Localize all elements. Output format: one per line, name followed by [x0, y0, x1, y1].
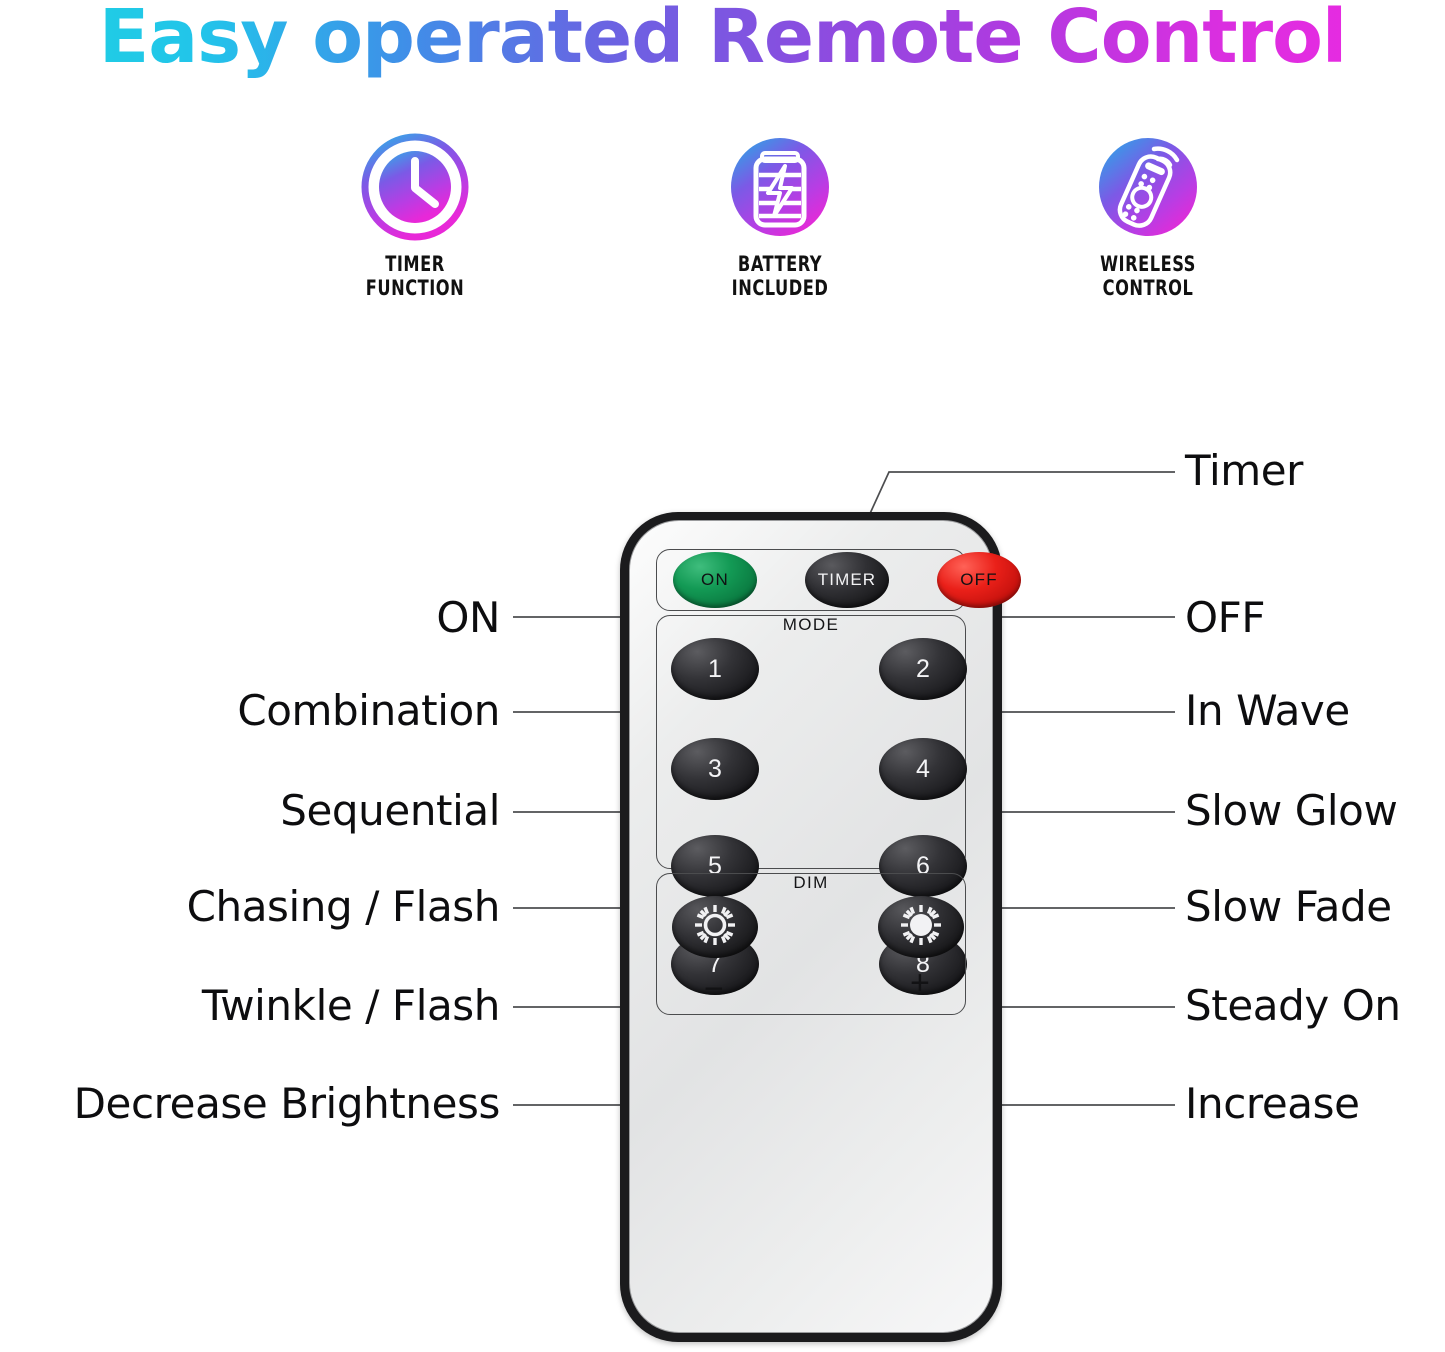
power-panel: ON TIMER OFF [656, 549, 966, 611]
dim-panel-title: DIM [657, 873, 965, 893]
mode-4-label: 4 [916, 755, 930, 784]
mode-1-button[interactable]: 1 [671, 638, 759, 700]
dim-increase-button[interactable] [878, 896, 964, 958]
callout-twinkle-flash: Twinkle / Flash [202, 981, 500, 1030]
feature-badges: TIMER FUNCTION [0, 128, 1445, 308]
mode-1-label: 1 [708, 655, 722, 684]
timer-button-label: TIMER [818, 570, 876, 590]
on-button[interactable]: ON [673, 552, 757, 608]
page-title: Easy operated Remote Control [0, 0, 1445, 80]
callout-timer: Timer [1185, 446, 1303, 495]
mode-3-button[interactable]: 3 [671, 738, 759, 800]
callout-on: ON [436, 593, 500, 642]
dim-increase-symbol: + [910, 966, 930, 1000]
mode-2-label: 2 [916, 655, 930, 684]
off-button-label: OFF [960, 570, 998, 590]
feature-timer-function: TIMER FUNCTION [285, 128, 545, 301]
remote-control: ON TIMER OFF MODE 1 2 3 4 5 6 7 8 DIM [620, 512, 1002, 1342]
callout-sequential: Sequential [280, 786, 500, 835]
callout-in-wave: In Wave [1185, 686, 1350, 735]
remote-faceplate: ON TIMER OFF MODE 1 2 3 4 5 6 7 8 DIM [629, 520, 993, 1333]
callout-slow-glow: Slow Glow [1185, 786, 1397, 835]
timer-button[interactable]: TIMER [805, 552, 889, 608]
dim-decrease-symbol: − [704, 972, 724, 1006]
callout-slow-fade: Slow Fade [1185, 882, 1392, 931]
battery-icon [650, 128, 910, 246]
on-button-label: ON [701, 570, 729, 590]
off-button[interactable]: OFF [937, 552, 1021, 608]
mode-3-label: 3 [708, 755, 722, 784]
remote-signal-icon [1018, 128, 1278, 246]
feature-label: WIRELESS CONTROL [1036, 252, 1260, 301]
dim-panel: DIM [656, 873, 966, 1015]
sun-hollow-icon [692, 902, 738, 953]
callout-steady-on: Steady On [1185, 981, 1401, 1030]
mode-2-button[interactable]: 2 [879, 638, 967, 700]
callout-combination: Combination [237, 686, 500, 735]
mode-panel-title: MODE [657, 615, 965, 635]
callout-chasing-flash: Chasing / Flash [187, 882, 500, 931]
feature-wireless-control: WIRELESS CONTROL [1018, 128, 1278, 301]
clock-icon [285, 128, 545, 246]
mode-4-button[interactable]: 4 [879, 738, 967, 800]
feature-label: TIMER FUNCTION [303, 252, 527, 301]
callout-increase: Increase [1185, 1079, 1360, 1128]
feature-label: BATTERY INCLUDED [668, 252, 892, 301]
feature-battery-included: BATTERY INCLUDED [650, 128, 910, 301]
callout-decrease-brightness: Decrease Brightness [74, 1079, 500, 1128]
dim-decrease-button[interactable] [672, 896, 758, 958]
sun-solid-icon [898, 902, 944, 953]
mode-panel: MODE 1 2 3 4 5 6 7 8 [656, 615, 966, 869]
callout-off: OFF [1185, 593, 1265, 642]
